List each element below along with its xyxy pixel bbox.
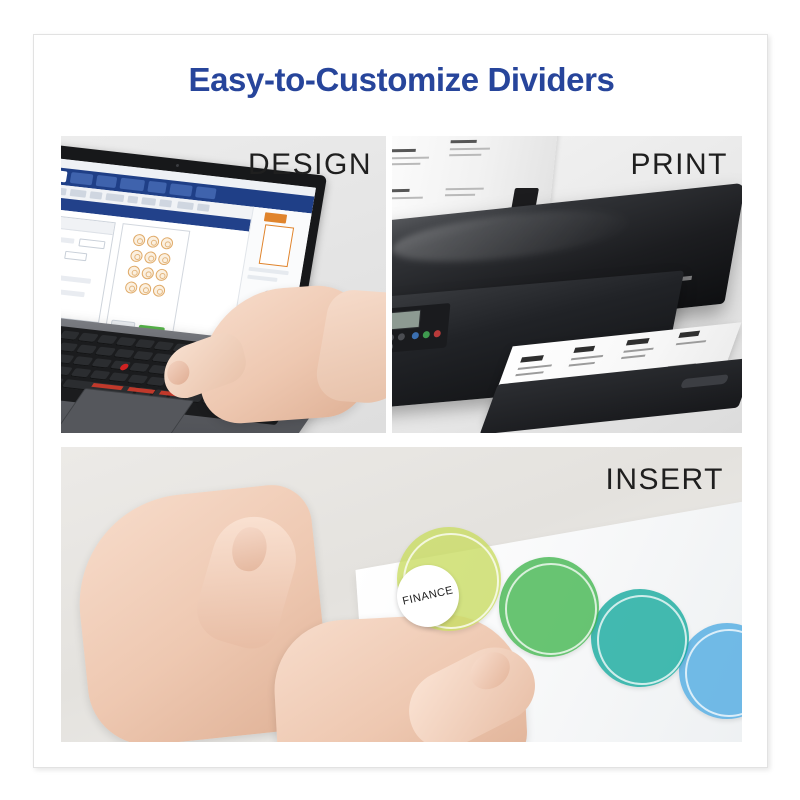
toolbar-button[interactable] — [177, 201, 194, 210]
label-circle — [138, 282, 152, 295]
rail-text — [247, 275, 277, 282]
ribbon-tab[interactable] — [119, 178, 145, 192]
printer-button[interactable] — [398, 333, 406, 341]
label-circle — [141, 267, 155, 280]
label-circle — [130, 249, 144, 262]
ribbon-tab[interactable] — [96, 175, 118, 188]
wrist — [312, 288, 386, 405]
label-circle — [160, 237, 174, 250]
panel-label-insert: INSERT — [606, 463, 724, 497]
form-label — [61, 234, 75, 243]
panel-label-print: PRINT — [631, 148, 729, 182]
hand-right — [271, 611, 529, 742]
label-circle — [143, 251, 157, 264]
options-dialog — [61, 213, 116, 323]
label-circle — [157, 252, 171, 265]
ribbon-tab-active[interactable] — [61, 169, 68, 183]
label-circle — [124, 281, 138, 294]
label-circle — [132, 233, 146, 246]
finance-label-text: FINANCE — [401, 584, 454, 607]
panel-print: PRINT — [392, 136, 742, 433]
toolbar-button[interactable] — [105, 193, 124, 202]
label-circle — [152, 284, 166, 297]
rail-text — [248, 267, 288, 275]
product-image-card: Easy-to-Customize Dividers — [33, 34, 768, 768]
toolbar-button[interactable] — [141, 197, 156, 205]
template-thumbnail-selected[interactable] — [259, 224, 294, 267]
fingernail — [463, 645, 517, 697]
printer-lcd-display — [392, 310, 421, 332]
left-thumb — [189, 507, 306, 655]
printer-button[interactable] — [392, 334, 394, 342]
toolbar-button[interactable] — [127, 196, 138, 204]
toolbar-button[interactable] — [197, 204, 210, 212]
toolbar-button[interactable] — [89, 191, 102, 199]
printer-button[interactable] — [392, 343, 393, 351]
ribbon-tab[interactable] — [169, 183, 193, 196]
form-input[interactable] — [64, 251, 87, 261]
dialog-header — [61, 214, 115, 235]
printer-power-button[interactable] — [433, 330, 441, 338]
toolbar-button[interactable] — [61, 187, 67, 195]
panel-insert: FINANCE INSERT — [61, 447, 742, 742]
thumbnail-nail — [229, 525, 270, 574]
label-circle — [127, 265, 141, 278]
ribbon-tab[interactable] — [147, 181, 167, 194]
fingernail — [165, 358, 192, 388]
finance-label[interactable]: FINANCE — [397, 565, 459, 627]
panel-label-design: DESIGN — [248, 148, 372, 182]
printer-color-copy-button[interactable] — [412, 332, 420, 340]
output-tray-grip[interactable] — [680, 374, 729, 388]
toolbar-button[interactable] — [70, 189, 87, 198]
divider-tab-teal[interactable] — [591, 589, 689, 687]
selected-template-badge — [264, 212, 287, 223]
radio-label — [61, 287, 85, 298]
printer-control-panel[interactable] — [392, 303, 450, 354]
divider-tab-green[interactable] — [499, 557, 599, 657]
webcam-icon — [176, 164, 179, 167]
form-input[interactable] — [78, 238, 105, 249]
label-circle — [155, 268, 169, 281]
ribbon-tab[interactable] — [70, 172, 94, 185]
toolbar-button[interactable] — [159, 199, 172, 207]
radio-label — [61, 273, 91, 284]
printer-start-button[interactable] — [422, 331, 430, 339]
page-title: Easy-to-Customize Dividers — [34, 61, 768, 99]
label-circle — [146, 235, 160, 248]
ribbon-tab[interactable] — [195, 186, 217, 199]
panel-design: DESIGN — [61, 136, 386, 433]
